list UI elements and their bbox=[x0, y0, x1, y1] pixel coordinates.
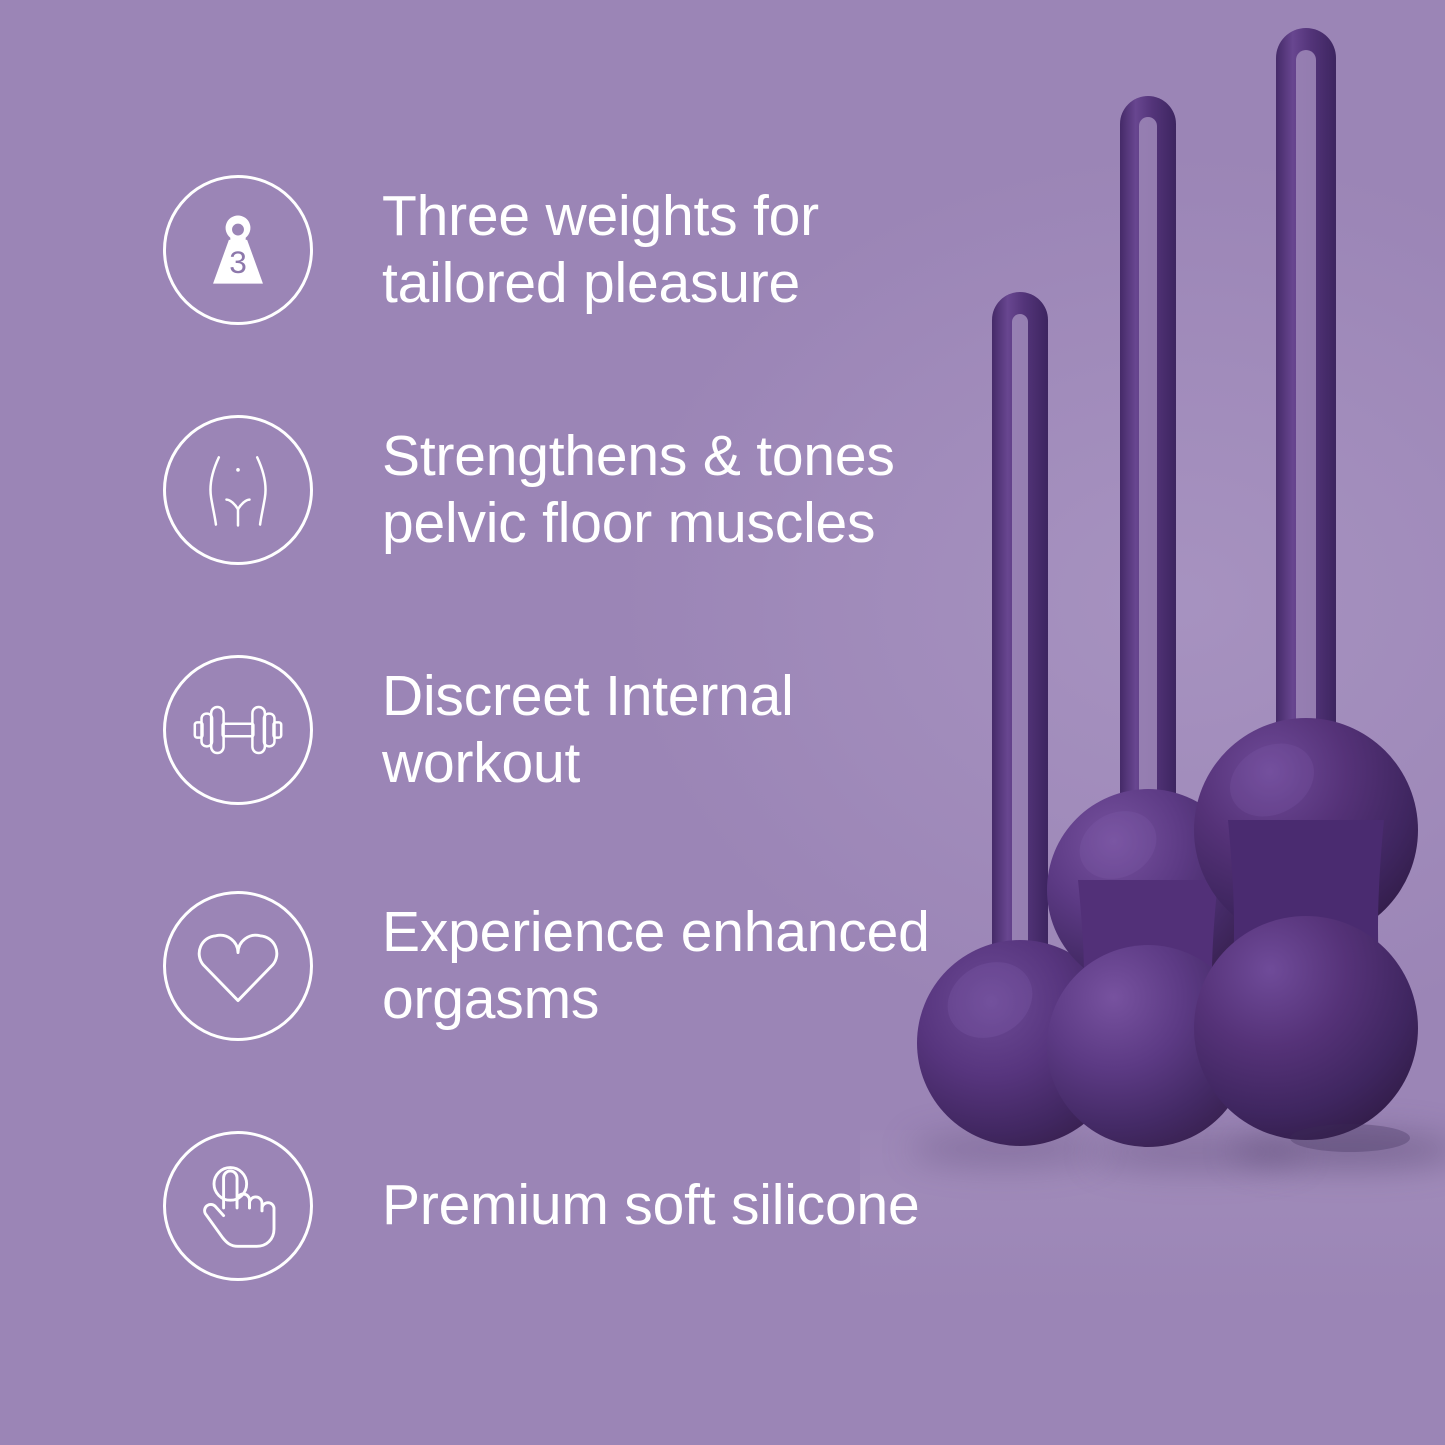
heart-icon bbox=[160, 888, 316, 1044]
pelvic-floor-icon-art bbox=[190, 442, 286, 538]
feature-list: 3 Three weights for tailored pleasure St… bbox=[0, 0, 920, 1445]
feature-item-discreet-workout: Discreet Internal workout bbox=[160, 652, 940, 808]
dumbbell-icon-art bbox=[190, 682, 286, 778]
product-photo-group bbox=[880, 0, 1445, 1445]
pelvic-floor-icon bbox=[160, 412, 316, 568]
weight-3-icon: 3 bbox=[160, 172, 316, 328]
feature-item-strengthens-tones: Strengthens & tones pelvic floor muscles bbox=[160, 412, 940, 568]
heart-icon-art bbox=[190, 918, 286, 1014]
kegel-weight-large bbox=[1194, 28, 1418, 1140]
infographic-canvas: 3 Three weights for tailored pleasure St… bbox=[0, 0, 1445, 1445]
feature-item-premium-silicone: Premium soft silicone bbox=[160, 1128, 940, 1284]
feature-item-enhanced-orgasms: Experience enhanced orgasms bbox=[160, 888, 940, 1044]
feature-label: Three weights for tailored pleasure bbox=[382, 183, 819, 318]
kegel-weights-illustration bbox=[880, 0, 1445, 1445]
feature-label: Discreet Internal workout bbox=[382, 663, 794, 798]
feature-label: Strengthens & tones pelvic floor muscles bbox=[382, 423, 895, 558]
touch-hand-icon-art bbox=[190, 1158, 286, 1254]
touch-hand-icon bbox=[160, 1128, 316, 1284]
weight-3-icon-art: 3 bbox=[190, 202, 286, 298]
feature-item-three-weights: 3 Three weights for tailored pleasure bbox=[160, 172, 940, 328]
dumbbell-icon bbox=[160, 652, 316, 808]
weight-icon-number: 3 bbox=[229, 244, 247, 280]
feature-label: Experience enhanced orgasms bbox=[382, 899, 930, 1034]
feature-label: Premium soft silicone bbox=[382, 1172, 919, 1239]
